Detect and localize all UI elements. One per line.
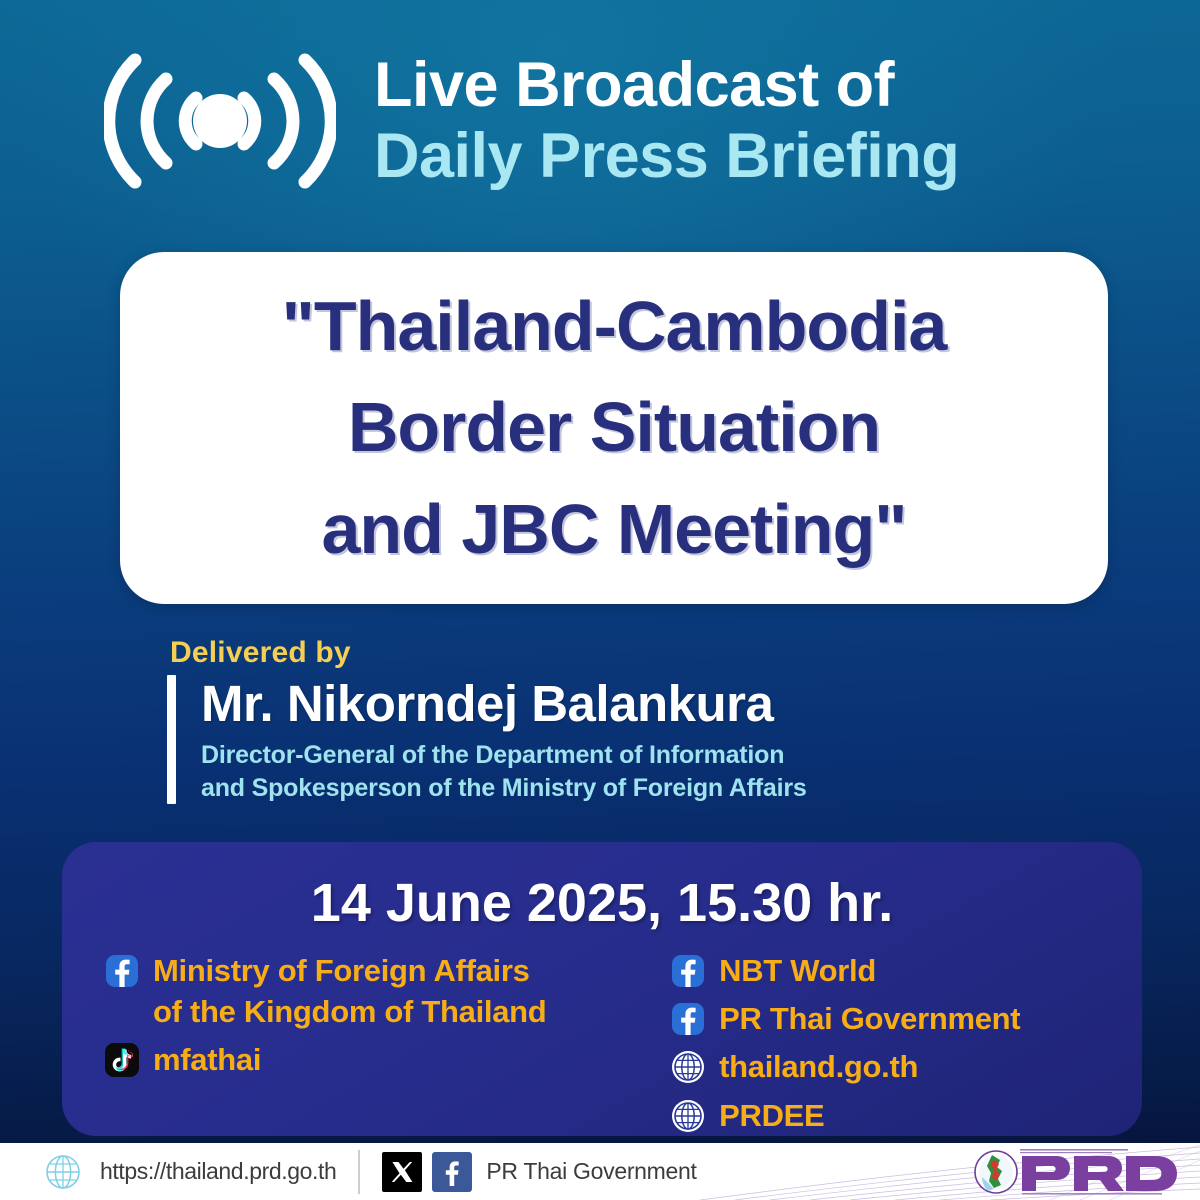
speaker-name: Mr. Nikorndej Balankura (201, 675, 807, 733)
social-label-prdee: PRDEE (719, 1095, 824, 1136)
social-item-mfathai-tiktok[interactable]: mfathai (104, 1039, 670, 1080)
social-links: Ministry of Foreign Affairs of the Kingd… (62, 950, 1142, 1143)
social-item-mfa-facebook[interactable]: Ministry of Foreign Affairs of the Kingd… (104, 950, 670, 1032)
prd-logo (970, 1147, 1182, 1197)
facebook-icon (670, 953, 706, 989)
social-item-pr-thai-government[interactable]: PR Thai Government (670, 998, 1100, 1039)
social-label-mfa: Ministry of Foreign Affairs of the Kingd… (153, 950, 546, 1032)
social-label-mfa-line1: Ministry of Foreign Affairs (153, 950, 546, 991)
info-panel: 14 June 2025, 15.30 hr. Ministry of Fore… (62, 842, 1142, 1136)
delivered-by-label: Delivered by (170, 636, 1067, 670)
header-line-1: Live Broadcast of (374, 50, 959, 121)
globe-icon (670, 1049, 706, 1085)
footer-divider (358, 1150, 360, 1194)
social-label-mfathai: mfathai (153, 1039, 261, 1080)
speaker-block: Delivered by Mr. Nikorndej Balankura Dir… (167, 636, 1067, 804)
social-item-nbt-world[interactable]: NBT World (670, 950, 1100, 991)
event-datetime: 14 June 2025, 15.30 hr. (62, 872, 1142, 934)
title-card: "Thailand-Cambodia Border Situation and … (120, 252, 1108, 604)
social-label-pr-thai-government: PR Thai Government (719, 998, 1020, 1039)
title-line-3: and JBC Meeting" (321, 479, 906, 581)
header-line-2: Daily Press Briefing (374, 121, 959, 192)
footer-bar: https://thailand.prd.go.th PR Thai Gover… (0, 1143, 1200, 1200)
facebook-icon (104, 953, 140, 989)
social-column-right: NBT World PR Thai Government (670, 950, 1100, 1143)
social-label-nbt-world: NBT World (719, 950, 876, 991)
speaker-title-line-1: Director-General of the Department of In… (201, 739, 807, 772)
header: Live Broadcast of Daily Press Briefing (0, 46, 1200, 196)
tiktok-icon (104, 1042, 140, 1078)
social-label-thailand-go-th: thailand.go.th (719, 1046, 918, 1087)
social-label-mfa-line2: of the Kingdom of Thailand (153, 991, 546, 1032)
social-item-thailand-go-th[interactable]: thailand.go.th (670, 1046, 1100, 1087)
poster-canvas: Live Broadcast of Daily Press Briefing "… (0, 0, 1200, 1200)
social-item-prdee[interactable]: PRDEE (670, 1095, 1100, 1136)
globe-icon (670, 1098, 706, 1134)
speaker-accent-bar (167, 675, 176, 804)
globe-icon (44, 1153, 82, 1191)
x-twitter-icon[interactable] (382, 1152, 422, 1192)
speaker-title-line-2: and Spokesperson of the Ministry of Fore… (201, 772, 807, 805)
title-line-1: "Thailand-Cambodia (282, 276, 947, 378)
footer-url[interactable]: https://thailand.prd.go.th (100, 1158, 336, 1185)
header-text: Live Broadcast of Daily Press Briefing (374, 50, 959, 191)
facebook-icon[interactable] (432, 1152, 472, 1192)
social-column-left: Ministry of Foreign Affairs of the Kingd… (104, 950, 670, 1143)
title-line-2: Border Situation (348, 377, 880, 479)
broadcast-waves-icon (104, 46, 336, 196)
facebook-icon (670, 1001, 706, 1037)
